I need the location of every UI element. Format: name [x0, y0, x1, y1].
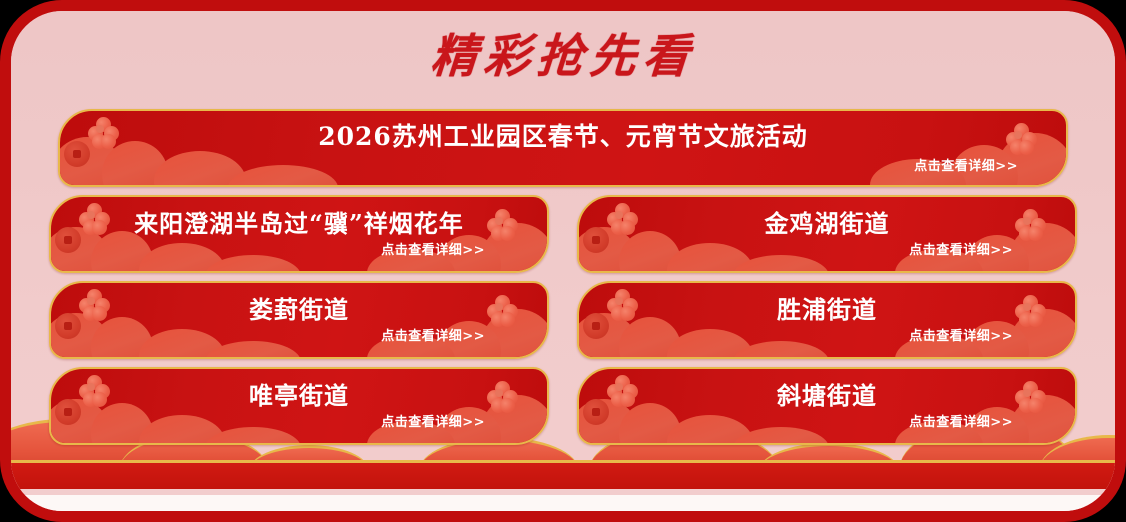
banner-weiting-subdistrict[interactable]: 唯亭街道 点击查看详细>> — [49, 367, 549, 445]
banner-shengpu-subdistrict[interactable]: 胜浦街道 点击查看详细>> — [577, 281, 1077, 359]
banner-content: 金鸡湖街道 点击查看详细>> — [579, 197, 1075, 271]
banner-row-1: 2026苏州工业园区春节、元宵节文旅活动 点击查看详细>> — [11, 109, 1115, 187]
banner-main-activity[interactable]: 2026苏州工业园区春节、元宵节文旅活动 点击查看详细>> — [58, 109, 1068, 187]
view-details-link[interactable]: 点击查看详细>> — [914, 160, 1018, 173]
view-details-link[interactable]: 点击查看详细>> — [909, 330, 1013, 343]
view-details-link[interactable]: 点击查看详细>> — [909, 416, 1013, 429]
view-details-link[interactable]: 点击查看详细>> — [381, 244, 485, 257]
banner-xietang-subdistrict[interactable]: 斜塘街道 点击查看详细>> — [577, 367, 1077, 445]
banner-content: 2026苏州工业园区春节、元宵节文旅活动 点击查看详细>> — [60, 111, 1066, 185]
banner-yangcheng-lake[interactable]: 来阳澄湖半岛过“骥”祥烟花年 点击查看详细>> — [49, 195, 549, 273]
banner-list: 2026苏州工业园区春节、元宵节文旅活动 点击查看详细>> — [11, 109, 1115, 453]
view-details-link[interactable]: 点击查看详细>> — [381, 330, 485, 343]
festival-activities-panel: 精彩抢先看 — [0, 0, 1126, 522]
banner-content: 唯亭街道 点击查看详细>> — [51, 369, 547, 443]
view-details-link[interactable]: 点击查看详细>> — [381, 416, 485, 429]
banner-title: 胜浦街道 — [777, 297, 877, 323]
banner-row-3: 娄葑街道 点击查看详细>> — [11, 281, 1115, 359]
banner-title: 来阳澄湖半岛过“骥”祥烟花年 — [134, 211, 464, 237]
page-title: 精彩抢先看 — [429, 33, 697, 79]
banner-title: 娄葑街道 — [249, 297, 349, 323]
view-details-link[interactable]: 点击查看详细>> — [909, 244, 1013, 257]
banner-loufeng-subdistrict[interactable]: 娄葑街道 点击查看详细>> — [49, 281, 549, 359]
banner-title: 唯亭街道 — [249, 383, 349, 409]
banner-content: 胜浦街道 点击查看详细>> — [579, 283, 1075, 357]
page-title-wrap: 精彩抢先看 — [11, 33, 1115, 79]
banner-title: 2026苏州工业园区春节、元宵节文旅活动 — [318, 123, 808, 151]
banner-row-4: 唯亭街道 点击查看详细>> — [11, 367, 1115, 445]
banner-title: 金鸡湖街道 — [765, 211, 890, 237]
bottom-bar — [11, 495, 1115, 511]
banner-row-2: 来阳澄湖半岛过“骥”祥烟花年 点击查看详细>> — [11, 195, 1115, 273]
banner-content: 来阳澄湖半岛过“骥”祥烟花年 点击查看详细>> — [51, 197, 547, 271]
banner-jinjihu-subdistrict[interactable]: 金鸡湖街道 点击查看详细>> — [577, 195, 1077, 273]
banner-title: 斜塘街道 — [777, 383, 877, 409]
banner-content: 斜塘街道 点击查看详细>> — [579, 369, 1075, 443]
banner-content: 娄葑街道 点击查看详细>> — [51, 283, 547, 357]
